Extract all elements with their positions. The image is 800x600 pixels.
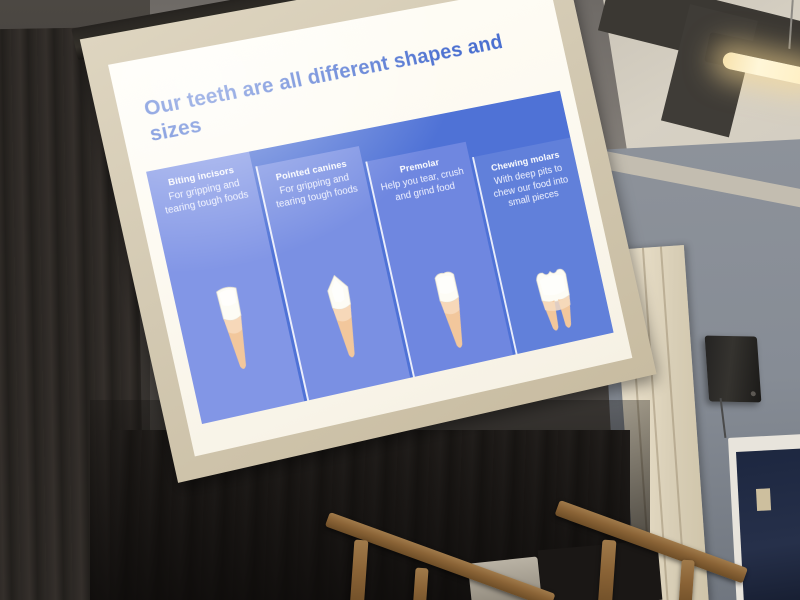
speaker-led — [751, 391, 756, 396]
screen-surface: Our teeth are all different shapes and s… — [108, 0, 632, 456]
wall-speaker-icon — [705, 336, 762, 403]
door-sign — [756, 488, 771, 511]
navy-door[interactable] — [736, 449, 800, 600]
molar-tooth-icon — [488, 201, 612, 344]
handrail-post — [678, 560, 694, 600]
panel-description: Help you tear, crush and grind food — [379, 166, 468, 207]
room-scene: Our teeth are all different shapes and s… — [0, 0, 800, 600]
handrail-post — [412, 568, 428, 600]
tooth-panel-row: Biting incisors For gripping and tearing… — [146, 91, 613, 424]
